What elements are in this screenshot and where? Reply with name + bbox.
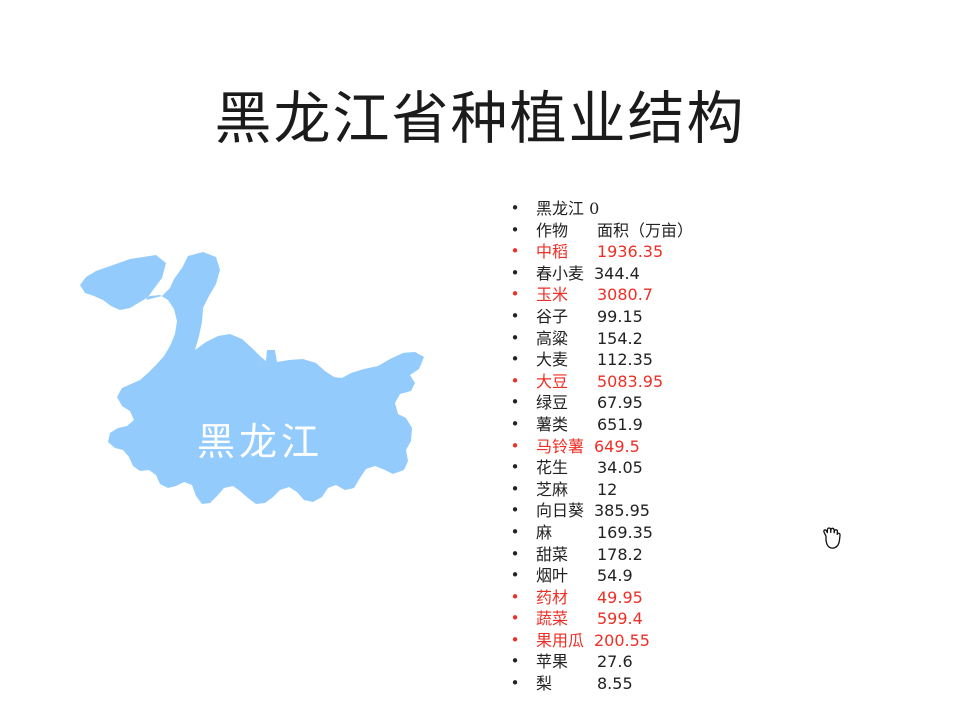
list-item: •甜菜178.2	[506, 544, 806, 566]
province-east-tab	[403, 352, 424, 372]
bullet-icon: •	[510, 630, 520, 652]
bullet-icon: •	[510, 587, 520, 609]
crop-name: 烟叶	[536, 565, 568, 587]
crop-name: 春小麦	[536, 263, 584, 285]
crop-name: 果用瓜	[536, 630, 584, 652]
bullet-icon: •	[510, 220, 520, 242]
crop-name: 蔬菜	[536, 608, 568, 630]
grab-hand-cursor	[820, 525, 846, 553]
bullet-icon: •	[510, 565, 520, 587]
crop-name: 高粱	[536, 328, 568, 350]
bullet-icon: •	[510, 414, 520, 436]
bullet-icon: •	[510, 673, 520, 695]
list-item: •玉米3080.7	[506, 284, 806, 306]
crop-name: 大豆	[536, 371, 568, 393]
crop-area-value: 1936.35	[597, 241, 663, 263]
list-item: •作物面积（万亩）	[506, 220, 806, 242]
list-item: •烟叶54.9	[506, 565, 806, 587]
page-title: 黑龙江省种植业结构	[0, 84, 960, 154]
list-item: •黑龙江 0	[506, 198, 806, 220]
crop-name: 中稻	[536, 241, 568, 263]
bullet-icon: •	[510, 306, 520, 328]
bullet-icon: •	[510, 349, 520, 371]
crop-name: 玉米	[536, 284, 568, 306]
list-item: •中稻1936.35	[506, 241, 806, 263]
crop-area-value: 面积（万亩）	[597, 220, 693, 242]
bullet-icon: •	[510, 522, 520, 544]
bullet-icon: •	[510, 500, 520, 522]
list-item: •马铃薯649.5	[506, 436, 806, 458]
bullet-icon: •	[510, 436, 520, 458]
crop-area-value: 12	[597, 479, 617, 501]
crop-name: 甜菜	[536, 544, 568, 566]
list-item: •谷子99.15	[506, 306, 806, 328]
crop-area-value: 154.2	[597, 328, 643, 350]
crop-name: 马铃薯	[536, 436, 584, 458]
bullet-icon: •	[510, 284, 520, 306]
crop-area-value: 112.35	[597, 349, 653, 371]
bullet-icon: •	[510, 392, 520, 414]
crop-area-value: 651.9	[597, 414, 643, 436]
crop-name: 大麦	[536, 349, 568, 371]
bullet-icon: •	[510, 479, 520, 501]
hand-icon	[820, 525, 846, 553]
crop-area-value: 169.35	[597, 522, 653, 544]
list-item: •芝麻12	[506, 479, 806, 501]
crop-area-value: 8.55	[597, 673, 633, 695]
crop-area-value: 599.4	[597, 608, 643, 630]
crop-area-list: •黑龙江 0•作物面积（万亩）•中稻1936.35•春小麦344.4•玉米308…	[506, 198, 806, 695]
list-item: •蔬菜599.4	[506, 608, 806, 630]
list-item: •麻169.35	[506, 522, 806, 544]
list-item: •向日葵385.95	[506, 500, 806, 522]
list-item-text: 黑龙江 0	[536, 198, 599, 220]
list-item: •花生34.05	[506, 457, 806, 479]
list-item: •薯类651.9	[506, 414, 806, 436]
crop-area-value: 54.9	[597, 565, 633, 587]
crop-name: 麻	[536, 522, 552, 544]
crop-area-value: 99.15	[597, 306, 643, 328]
crop-area-value: 385.95	[594, 500, 650, 522]
crop-name: 芝麻	[536, 479, 568, 501]
list-item: •大豆5083.95	[506, 371, 806, 393]
bullet-icon: •	[510, 608, 520, 630]
bullet-icon: •	[510, 371, 520, 393]
bullet-icon: •	[510, 263, 520, 285]
crop-name: 作物	[536, 220, 568, 242]
crop-area-value: 5083.95	[597, 371, 663, 393]
list-item: •绿豆67.95	[506, 392, 806, 414]
presentation-slide: 黑龙江省种植业结构 黑龙江 •黑龙江 0•作物面积（万亩）•中稻1936.35•…	[0, 0, 960, 720]
crop-area-value: 3080.7	[597, 284, 653, 306]
heilongjiang-map[interactable]: 黑龙江	[70, 238, 450, 568]
province-map-shape[interactable]	[70, 238, 450, 568]
crop-area-value: 649.5	[594, 436, 640, 458]
crop-area-value: 27.6	[597, 651, 633, 673]
list-item: •春小麦344.4	[506, 263, 806, 285]
list-item: •梨8.55	[506, 673, 806, 695]
crop-area-value: 67.95	[597, 392, 643, 414]
crop-area-value: 344.4	[594, 263, 640, 285]
crop-name: 药材	[536, 587, 568, 609]
crop-name: 花生	[536, 457, 568, 479]
list-item: •大麦112.35	[506, 349, 806, 371]
crop-name: 向日葵	[536, 500, 584, 522]
bullet-icon: •	[510, 544, 520, 566]
crop-name: 梨	[536, 673, 552, 695]
bullet-icon: •	[510, 198, 520, 220]
crop-name: 苹果	[536, 651, 568, 673]
crop-area-value: 200.55	[594, 630, 650, 652]
bullet-icon: •	[510, 651, 520, 673]
list-item: •高粱154.2	[506, 328, 806, 350]
bullet-icon: •	[510, 241, 520, 263]
crop-area-value: 49.95	[597, 587, 643, 609]
heilongjiang-province-path[interactable]	[80, 252, 422, 504]
bullet-icon: •	[510, 328, 520, 350]
bullet-icon: •	[510, 457, 520, 479]
list-item: •果用瓜200.55	[506, 630, 806, 652]
crop-area-value: 34.05	[597, 457, 643, 479]
list-item: •药材49.95	[506, 587, 806, 609]
crop-name: 谷子	[536, 306, 568, 328]
crop-name: 薯类	[536, 414, 568, 436]
crop-name: 绿豆	[536, 392, 568, 414]
crop-area-value: 178.2	[597, 544, 643, 566]
list-item: •苹果27.6	[506, 651, 806, 673]
